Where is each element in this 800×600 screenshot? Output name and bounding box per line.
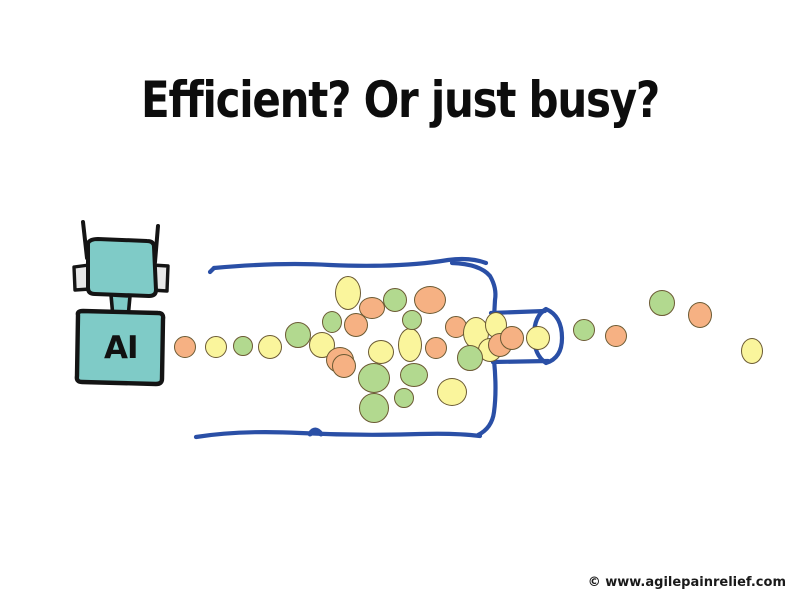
work-item-dot xyxy=(332,354,356,378)
work-item-dot xyxy=(500,326,524,350)
work-item-dot xyxy=(174,336,196,358)
work-item-dot xyxy=(358,363,390,393)
work-item-dot xyxy=(741,338,763,364)
work-item-dot xyxy=(383,288,407,312)
work-item-dot xyxy=(359,393,389,423)
work-item-dot xyxy=(400,363,428,387)
work-item-dot xyxy=(233,336,253,356)
footer-credit: © www.agilepainrelief.com xyxy=(588,575,786,590)
work-item-dot xyxy=(414,286,446,314)
work-item-dot xyxy=(344,313,368,337)
work-item-dot xyxy=(425,337,447,359)
slide-canvas: Efficient? Or just busy? xyxy=(0,0,800,600)
work-item-dot xyxy=(605,325,627,347)
work-item-dot xyxy=(394,388,414,408)
work-item-dot xyxy=(457,345,483,371)
work-item-dot xyxy=(688,302,712,328)
work-item-dots xyxy=(0,0,800,600)
work-item-dot xyxy=(649,290,675,316)
work-item-dot xyxy=(437,378,467,406)
work-item-dot xyxy=(402,310,422,330)
work-item-dot xyxy=(398,328,422,362)
work-item-dot xyxy=(285,322,311,348)
work-item-dot xyxy=(335,276,361,310)
work-item-dot xyxy=(526,326,550,350)
work-item-dot xyxy=(258,335,282,359)
work-item-dot xyxy=(322,311,342,333)
work-item-dot xyxy=(205,336,227,358)
work-item-dot xyxy=(573,319,595,341)
work-item-dot xyxy=(368,340,394,364)
